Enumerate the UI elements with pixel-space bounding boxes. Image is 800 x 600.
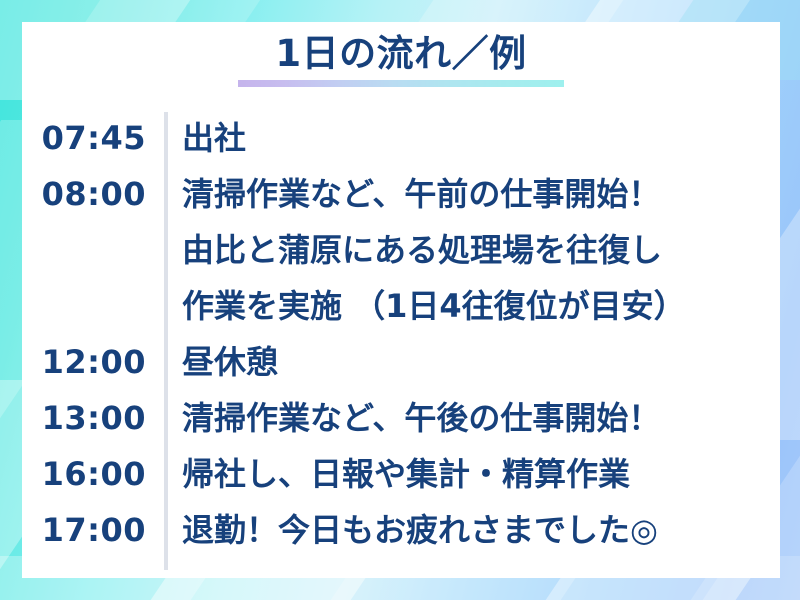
schedule-description: 清掃作業など、午前の仕事開始！	[164, 166, 780, 222]
schedule-time: 17:00	[22, 502, 164, 558]
schedule-description: 清掃作業など、午後の仕事開始！	[164, 390, 780, 446]
schedule-description: 退勤！今日もお疲れさまでした◎	[164, 502, 780, 558]
schedule-time: 07:45	[22, 110, 164, 166]
table-row: 16:00 帰社し、日報や集計・精算作業	[22, 446, 780, 502]
slide-canvas: 1日の流れ／例 07:45 出社 08:00 清掃作業など、午前の仕事開始！ 由…	[0, 0, 800, 600]
table-row: 08:00 清掃作業など、午前の仕事開始！	[22, 166, 780, 222]
table-row: 07:45 出社	[22, 110, 780, 166]
schedule-time: 12:00	[22, 334, 164, 390]
schedule-table: 07:45 出社 08:00 清掃作業など、午前の仕事開始！ 由比と蒲原にある処…	[22, 110, 780, 558]
table-row: 由比と蒲原にある処理場を往復し	[22, 222, 780, 278]
title-block: 1日の流れ／例	[22, 32, 780, 87]
table-row: 17:00 退勤！今日もお疲れさまでした◎	[22, 502, 780, 558]
schedule-description: 由比と蒲原にある処理場を往復し	[164, 222, 780, 278]
table-row: 作業を実施 （1日4往復位が目安）	[22, 278, 780, 334]
title-underline	[238, 80, 564, 87]
schedule-description: 昼休憩	[164, 334, 780, 390]
schedule-description: 帰社し、日報や集計・精算作業	[164, 446, 780, 502]
table-row: 13:00 清掃作業など、午後の仕事開始！	[22, 390, 780, 446]
table-row: 12:00 昼休憩	[22, 334, 780, 390]
schedule-description: 作業を実施 （1日4往復位が目安）	[164, 278, 780, 334]
page-title: 1日の流れ／例	[275, 32, 526, 76]
schedule-time: 08:00	[22, 166, 164, 222]
schedule-description: 出社	[164, 110, 780, 166]
schedule-time: 16:00	[22, 446, 164, 502]
schedule-time: 13:00	[22, 390, 164, 446]
content-card: 1日の流れ／例 07:45 出社 08:00 清掃作業など、午前の仕事開始！ 由…	[22, 22, 780, 578]
